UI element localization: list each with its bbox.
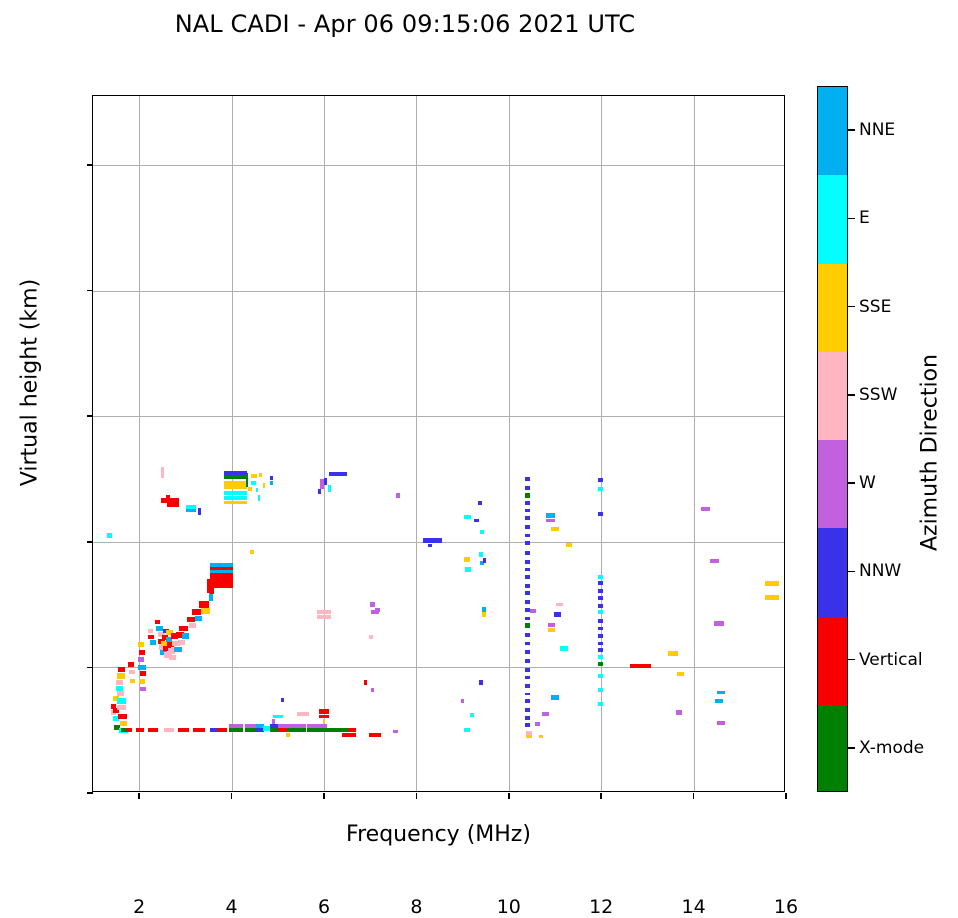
echo-mark bbox=[423, 538, 442, 542]
echo-mark bbox=[598, 688, 604, 692]
plot-canvas bbox=[93, 96, 784, 791]
echo-mark bbox=[717, 721, 725, 725]
echo-mark bbox=[525, 486, 531, 490]
echo-mark bbox=[525, 493, 531, 498]
echo-mark bbox=[598, 648, 604, 652]
echo-mark bbox=[118, 714, 126, 720]
echo-mark bbox=[479, 680, 484, 684]
echo-mark bbox=[319, 709, 329, 713]
echo-mark bbox=[465, 567, 471, 571]
echo-mark bbox=[482, 607, 486, 611]
echo-mark bbox=[546, 513, 554, 517]
x-tick-label: 14 bbox=[682, 896, 706, 918]
echo-mark bbox=[139, 679, 145, 684]
echo-mark bbox=[525, 693, 531, 696]
echo-mark bbox=[542, 712, 549, 716]
echo-mark bbox=[479, 552, 483, 556]
echo-mark bbox=[525, 560, 531, 564]
echo-mark bbox=[548, 623, 554, 627]
echo-mark bbox=[140, 687, 146, 691]
echo-mark bbox=[676, 710, 682, 714]
echo-mark bbox=[140, 671, 146, 676]
echo-mark bbox=[525, 600, 531, 604]
echo-mark bbox=[210, 563, 233, 566]
echo-mark bbox=[209, 593, 213, 601]
echo-mark bbox=[150, 640, 156, 645]
echo-mark bbox=[126, 728, 132, 732]
echo-mark bbox=[210, 588, 214, 594]
echo-mark bbox=[130, 679, 136, 683]
echo-mark bbox=[224, 496, 247, 500]
echo-mark bbox=[192, 609, 200, 615]
y-tick bbox=[87, 792, 93, 794]
echo-mark bbox=[161, 467, 164, 478]
x-gridline bbox=[601, 96, 602, 791]
colorbar-label-w: W bbox=[859, 473, 876, 493]
echo-mark bbox=[193, 728, 205, 732]
echo-mark bbox=[278, 724, 287, 728]
colorbar-tick bbox=[848, 218, 855, 220]
echo-mark bbox=[714, 621, 724, 625]
echo-mark bbox=[210, 567, 233, 570]
colorbar-segment-vertical[interactable] bbox=[818, 617, 847, 706]
colorbar-tick bbox=[848, 129, 855, 131]
echo-mark bbox=[186, 505, 195, 509]
echo-mark bbox=[525, 501, 531, 505]
y-tick bbox=[87, 667, 93, 669]
y-gridline bbox=[93, 416, 784, 417]
echo-mark bbox=[525, 509, 531, 513]
echo-mark bbox=[270, 481, 273, 485]
echo-mark bbox=[342, 733, 356, 737]
echo-mark bbox=[117, 673, 125, 679]
echo-mark bbox=[307, 728, 328, 732]
echo-mark bbox=[317, 610, 332, 614]
echo-mark bbox=[319, 715, 329, 719]
x-tick-label: 4 bbox=[226, 896, 238, 918]
echo-mark bbox=[245, 724, 256, 728]
x-tick bbox=[416, 793, 418, 799]
echo-mark bbox=[598, 674, 604, 678]
echo-mark bbox=[393, 730, 398, 734]
echo-mark bbox=[139, 650, 145, 655]
echo-mark bbox=[710, 559, 719, 563]
echo-mark bbox=[248, 487, 251, 491]
echo-mark bbox=[554, 612, 561, 616]
x-tick bbox=[508, 793, 510, 799]
echo-mark bbox=[229, 724, 243, 728]
echo-mark bbox=[598, 662, 604, 666]
x-tick-label: 8 bbox=[410, 896, 422, 918]
x-tick bbox=[785, 793, 787, 799]
echo-mark bbox=[224, 485, 247, 489]
echo-mark bbox=[598, 610, 604, 614]
echo-mark bbox=[120, 721, 127, 726]
echo-mark bbox=[396, 493, 399, 497]
echo-mark bbox=[464, 728, 470, 732]
echo-mark bbox=[548, 628, 554, 632]
echo-mark bbox=[369, 733, 381, 737]
colorbar-label-nne: NNE bbox=[859, 120, 895, 140]
colorbar-segment-nne[interactable] bbox=[818, 87, 847, 176]
echo-mark bbox=[364, 680, 367, 684]
echo-mark bbox=[525, 699, 531, 703]
echo-mark bbox=[715, 699, 723, 703]
x-tick bbox=[600, 793, 602, 799]
echo-mark bbox=[348, 728, 356, 732]
echo-mark bbox=[560, 646, 568, 650]
x-tick-label: 6 bbox=[318, 896, 330, 918]
echo-mark bbox=[174, 647, 181, 652]
echo-mark bbox=[525, 617, 531, 621]
echo-mark bbox=[138, 642, 144, 647]
echo-mark bbox=[630, 664, 651, 668]
colorbar-tick bbox=[848, 571, 855, 573]
echo-mark bbox=[375, 608, 380, 612]
x-gridline bbox=[509, 96, 510, 791]
echo-mark bbox=[195, 616, 202, 621]
echo-mark bbox=[156, 626, 162, 630]
echo-mark bbox=[224, 471, 247, 475]
colorbar-label-vertical: Vertical bbox=[859, 650, 923, 670]
echo-mark bbox=[148, 728, 157, 732]
x-tick bbox=[231, 793, 233, 799]
colorbar-label-sse: SSE bbox=[859, 297, 891, 317]
echo-mark bbox=[307, 724, 328, 728]
echo-mark bbox=[556, 603, 563, 607]
echo-mark bbox=[598, 596, 604, 600]
echo-mark bbox=[598, 655, 604, 659]
echo-mark bbox=[117, 698, 125, 704]
echo-mark bbox=[525, 477, 531, 481]
x-gridline bbox=[232, 96, 233, 791]
echo-mark bbox=[598, 478, 604, 482]
echo-mark bbox=[287, 728, 305, 732]
echo-mark bbox=[259, 473, 262, 477]
colorbar-segment-nnw[interactable] bbox=[818, 528, 847, 617]
echo-mark bbox=[525, 623, 531, 628]
x-axis-title: Frequency (MHz) bbox=[92, 822, 785, 847]
echo-mark bbox=[116, 680, 123, 685]
echo-mark bbox=[229, 728, 243, 732]
echo-mark bbox=[598, 634, 604, 638]
echo-mark bbox=[136, 728, 143, 732]
echo-mark bbox=[765, 595, 779, 600]
colorbar-label-ssw: SSW bbox=[859, 385, 897, 405]
x-tick-label: 16 bbox=[774, 896, 798, 918]
echo-mark bbox=[251, 481, 256, 485]
echo-mark bbox=[155, 620, 161, 624]
echo-mark bbox=[273, 715, 283, 719]
echo-mark bbox=[179, 626, 187, 632]
echo-mark bbox=[287, 724, 305, 728]
x-tick bbox=[693, 793, 695, 799]
y-tick bbox=[87, 290, 93, 292]
echo-mark bbox=[370, 602, 375, 606]
y-tick bbox=[87, 164, 93, 166]
echo-mark bbox=[318, 489, 320, 494]
echo-mark bbox=[598, 589, 604, 593]
echo-mark bbox=[551, 695, 558, 699]
plot-area[interactable]: 02004006008001000246810121416 bbox=[92, 95, 785, 792]
colorbar-segment-sse[interactable] bbox=[818, 264, 847, 353]
echo-mark bbox=[164, 728, 174, 732]
echo-mark bbox=[525, 525, 531, 529]
colorbar-label-e: E bbox=[859, 208, 870, 228]
y-tick bbox=[87, 541, 93, 543]
echo-mark bbox=[167, 498, 179, 507]
echo-mark bbox=[329, 472, 347, 476]
echo-mark bbox=[169, 655, 175, 660]
page-title: NAL CADI - Apr 06 09:15:06 2021 UTC bbox=[0, 10, 810, 38]
echo-mark bbox=[210, 570, 233, 573]
echo-mark bbox=[525, 534, 531, 538]
echo-mark bbox=[138, 657, 144, 662]
echo-mark bbox=[478, 501, 482, 505]
echo-mark bbox=[258, 495, 260, 501]
echo-mark bbox=[526, 735, 532, 739]
echo-mark bbox=[598, 627, 604, 631]
x-tick bbox=[138, 793, 140, 799]
echo-mark bbox=[598, 642, 604, 646]
x-tick-label: 2 bbox=[133, 896, 145, 918]
echo-mark bbox=[328, 485, 331, 491]
y-axis-title: Virtual height (km) bbox=[18, 153, 43, 613]
echo-mark bbox=[250, 550, 253, 554]
echo-mark bbox=[677, 672, 683, 676]
echo-mark bbox=[525, 568, 531, 571]
x-tick-label: 12 bbox=[589, 896, 613, 918]
echo-mark bbox=[182, 633, 189, 638]
echo-mark bbox=[186, 509, 195, 513]
echo-mark bbox=[598, 512, 604, 516]
echo-mark bbox=[765, 581, 779, 586]
echo-mark bbox=[246, 473, 248, 487]
colorbar-tick bbox=[848, 747, 855, 749]
echo-mark bbox=[464, 515, 471, 519]
echo-mark bbox=[482, 612, 486, 616]
echo-mark bbox=[539, 735, 544, 739]
echo-mark bbox=[525, 716, 531, 720]
echo-mark bbox=[272, 719, 275, 724]
echo-mark bbox=[201, 608, 210, 614]
x-gridline bbox=[416, 96, 417, 791]
echo-mark bbox=[525, 668, 531, 672]
echo-mark bbox=[525, 541, 531, 545]
echo-mark bbox=[118, 667, 125, 672]
echo-mark bbox=[129, 670, 135, 674]
colorbar-title: Azimuth Direction bbox=[918, 223, 943, 683]
echo-mark bbox=[217, 728, 227, 732]
x-gridline bbox=[694, 96, 695, 791]
echo-mark bbox=[535, 722, 541, 726]
echo-mark bbox=[323, 719, 326, 723]
echo-mark bbox=[369, 635, 374, 639]
echo-mark bbox=[224, 501, 247, 504]
x-tick-label: 10 bbox=[497, 896, 521, 918]
colorbar-tick bbox=[848, 482, 855, 484]
echo-mark bbox=[148, 629, 154, 633]
echo-mark bbox=[161, 498, 167, 502]
echo-mark bbox=[480, 530, 484, 534]
echo-mark bbox=[371, 688, 374, 692]
echo-mark bbox=[525, 516, 531, 520]
echo-mark bbox=[286, 733, 291, 737]
echo-mark bbox=[270, 476, 273, 480]
colorbar[interactable] bbox=[817, 86, 848, 792]
echo-mark bbox=[598, 619, 604, 623]
echo-mark bbox=[598, 575, 604, 579]
echo-mark bbox=[598, 487, 604, 491]
y-tick bbox=[87, 415, 93, 417]
echo-mark bbox=[525, 633, 531, 637]
y-gridline bbox=[93, 291, 784, 292]
echo-mark bbox=[474, 519, 479, 523]
echo-mark bbox=[326, 728, 349, 732]
echo-mark bbox=[530, 609, 536, 613]
echo-mark bbox=[245, 728, 256, 732]
echo-mark bbox=[470, 713, 475, 717]
echo-mark bbox=[256, 488, 258, 492]
echo-mark bbox=[525, 650, 531, 654]
colorbar-segment-e[interactable] bbox=[818, 175, 847, 264]
x-tick bbox=[323, 793, 325, 799]
y-gridline bbox=[93, 667, 784, 668]
colorbar-label-nnw: NNW bbox=[859, 561, 901, 581]
echo-mark bbox=[138, 665, 145, 671]
echo-mark bbox=[251, 474, 257, 478]
echo-mark bbox=[128, 662, 134, 667]
echo-mark bbox=[551, 527, 558, 531]
echo-mark bbox=[461, 699, 465, 703]
colorbar-tick bbox=[848, 306, 855, 308]
echo-mark bbox=[525, 551, 531, 555]
echo-mark bbox=[189, 623, 196, 628]
colorbar-tick bbox=[848, 394, 855, 396]
echo-mark bbox=[117, 691, 124, 696]
echo-mark bbox=[525, 659, 531, 663]
echo-mark bbox=[317, 615, 332, 619]
colorbar-segment-w[interactable] bbox=[818, 440, 847, 529]
ionogram-figure: NAL CADI - Apr 06 09:15:06 2021 UTC 0200… bbox=[0, 0, 958, 857]
y-gridline bbox=[93, 165, 784, 166]
colorbar-label-x-mode: X-mode bbox=[859, 738, 924, 758]
echo-mark bbox=[224, 481, 247, 485]
colorbar-tick bbox=[848, 659, 855, 661]
echo-mark bbox=[701, 507, 710, 511]
echo-mark bbox=[525, 584, 531, 588]
echo-mark bbox=[178, 728, 189, 732]
echo-mark bbox=[598, 604, 604, 608]
echo-mark bbox=[483, 558, 486, 562]
echo-mark bbox=[117, 705, 125, 710]
echo-mark bbox=[324, 478, 327, 484]
echo-mark bbox=[224, 475, 247, 479]
echo-mark bbox=[263, 483, 266, 487]
echo-mark bbox=[525, 723, 531, 727]
echo-mark bbox=[525, 591, 531, 595]
echo-mark bbox=[598, 702, 604, 706]
echo-mark bbox=[668, 651, 678, 655]
echo-mark bbox=[107, 533, 112, 537]
echo-mark bbox=[278, 728, 287, 732]
colorbar-segment-ssw[interactable] bbox=[818, 352, 847, 441]
echo-mark bbox=[198, 508, 201, 516]
echo-mark bbox=[210, 571, 233, 589]
echo-mark bbox=[525, 575, 531, 579]
echo-mark bbox=[199, 601, 209, 607]
echo-mark bbox=[546, 519, 554, 523]
echo-mark bbox=[297, 712, 309, 716]
colorbar-segment-x-mode[interactable] bbox=[818, 705, 847, 792]
x-gridline bbox=[324, 96, 325, 791]
echo-mark bbox=[428, 544, 432, 548]
echo-mark bbox=[525, 676, 531, 680]
echo-mark bbox=[281, 698, 283, 702]
echo-mark bbox=[525, 684, 531, 688]
echo-mark bbox=[566, 543, 572, 547]
echo-mark bbox=[178, 640, 185, 645]
echo-mark bbox=[598, 581, 604, 585]
echo-mark bbox=[525, 708, 531, 712]
echo-mark bbox=[224, 491, 247, 495]
echo-mark bbox=[717, 691, 725, 695]
echo-mark bbox=[525, 642, 531, 646]
echo-mark bbox=[464, 557, 470, 561]
